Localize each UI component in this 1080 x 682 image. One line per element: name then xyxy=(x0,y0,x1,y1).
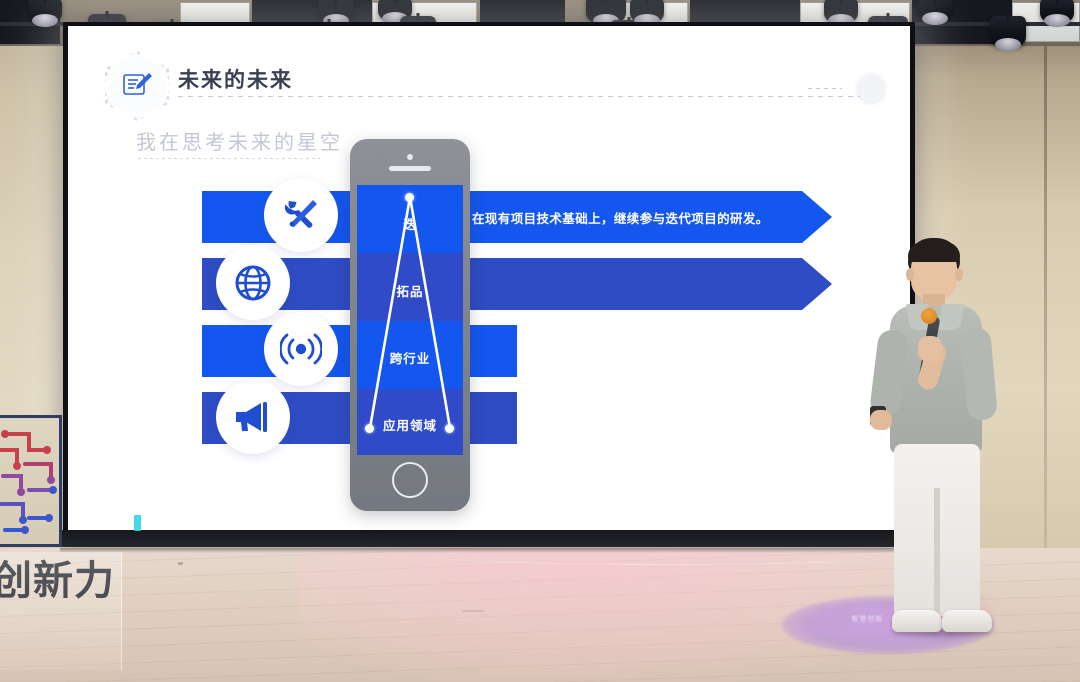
poster-glass-panel xyxy=(0,552,122,670)
stage-spotlight xyxy=(918,0,952,20)
phone-mockup: 迭 拓品 跨行业 应用领域 xyxy=(350,139,470,511)
phone-label: 应用领域 xyxy=(357,415,463,434)
presenter xyxy=(860,238,1040,658)
floor-shadow xyxy=(60,548,930,553)
subtitle-divider xyxy=(138,158,320,159)
title-divider xyxy=(178,96,878,97)
stage-spotlight xyxy=(990,16,1026,46)
stage-spotlight xyxy=(824,0,858,22)
circuit-board-icon xyxy=(0,415,62,547)
presenter-left-hand xyxy=(870,410,892,430)
phone-screen: 迭 拓品 跨行业 应用领域 xyxy=(357,185,463,455)
wall-seam xyxy=(1044,0,1047,556)
projection-screen: 未来的未来 我在思考未来的星空 在现有项目技术基础上，继续参与迭代项目的研发。 xyxy=(68,26,910,531)
phone-label: 拓品 xyxy=(357,281,463,300)
diagram-node xyxy=(405,193,414,202)
phone-label: 跨行业 xyxy=(357,348,463,367)
phone-camera xyxy=(407,154,413,160)
screenshot-root: 未来的未来 我在思考未来的星空 在现有项目技术基础上，继续参与迭代项目的研发。 xyxy=(0,0,1080,682)
floor-debris xyxy=(178,562,183,565)
decor-dashes xyxy=(808,88,842,89)
tools-icon xyxy=(264,178,338,252)
presenter-shoe xyxy=(892,610,942,632)
page-title: 未来的未来 xyxy=(178,64,293,94)
phone-earpiece xyxy=(389,166,431,171)
phone-label: 迭 xyxy=(357,214,463,233)
presenter-shoe xyxy=(942,610,992,632)
presenter-fringe xyxy=(908,242,960,262)
screen-status-marker xyxy=(134,515,141,531)
decor-circle xyxy=(857,74,885,102)
stage-spotlight xyxy=(318,0,354,22)
globe-icon xyxy=(216,246,290,320)
megaphone-icon xyxy=(216,380,290,454)
broadcast-signal-icon xyxy=(264,312,338,386)
presenter-ear xyxy=(906,268,914,281)
document-edit-icon xyxy=(108,54,166,118)
screen-base xyxy=(60,530,920,547)
stage-spotlight xyxy=(630,0,664,22)
stage-spotlight xyxy=(586,0,626,22)
arrow-banner xyxy=(202,258,802,310)
presenter-right-hand xyxy=(918,336,942,362)
stage-spotlight xyxy=(28,0,62,22)
phone-home-button xyxy=(392,462,428,498)
stage-spotlight xyxy=(1040,0,1074,22)
floor-debris xyxy=(462,610,484,612)
slide-subtitle: 我在思考未来的星空 xyxy=(136,126,343,155)
presentation-slide: 未来的未来 我在思考未来的星空 在现有项目技术基础上，继续参与迭代项目的研发。 xyxy=(68,26,910,531)
arrow-banner-text: 在现有项目技术基础上，继续参与迭代项目的研发。 xyxy=(472,191,769,243)
presenter-ear xyxy=(955,268,963,281)
presenter-leg-gap xyxy=(934,488,940,616)
